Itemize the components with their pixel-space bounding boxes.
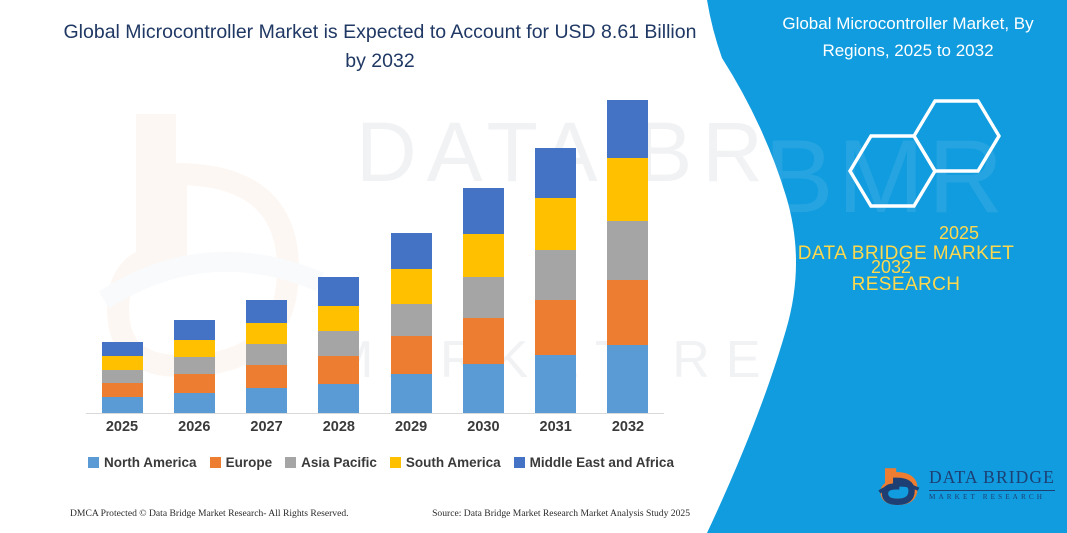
bar-segment [463, 364, 504, 413]
stacked-bar [391, 232, 432, 413]
bar-column [592, 100, 664, 413]
bar-segment [535, 355, 576, 413]
bar-column [303, 100, 375, 413]
left-pane: Global Microcontroller Market is Expecte… [0, 0, 740, 533]
bar-segment [174, 357, 215, 374]
legend-swatch-icon [390, 457, 401, 468]
bar-segment [391, 336, 432, 373]
bar-segment [246, 323, 287, 344]
legend-label: North America [104, 455, 197, 470]
x-axis-tick: 2031 [520, 419, 592, 435]
legend-swatch-icon [285, 457, 296, 468]
legend-label: Middle East and Africa [530, 455, 674, 470]
x-axis-tick: 2032 [592, 419, 664, 435]
bar-segment [535, 198, 576, 251]
legend-item[interactable]: Middle East and Africa [514, 455, 674, 470]
bar-segment [607, 158, 648, 221]
chart-plot-area [86, 100, 664, 414]
bar-segment [174, 320, 215, 340]
bar-column [231, 100, 303, 413]
stacked-bar [535, 148, 576, 413]
legend-swatch-icon [88, 457, 99, 468]
bar-segment [391, 374, 432, 413]
infographic-root: DATA BRIDGE MARKET RESEARCH Global Micro… [0, 0, 1067, 533]
bar-segment [102, 342, 143, 355]
legend-item[interactable]: Asia Pacific [285, 455, 377, 470]
bar-segment [246, 388, 287, 413]
x-axis-tick: 2026 [158, 419, 230, 435]
bar-segment [102, 397, 143, 413]
x-axis-tick: 2028 [303, 419, 375, 435]
x-axis-tick: 2025 [86, 419, 158, 435]
bar-segment [174, 393, 215, 413]
bar-column [158, 100, 230, 413]
footer: DMCA Protected © Data Bridge Market Rese… [70, 508, 690, 519]
hexagon-group: 2025 2032 [775, 95, 1045, 220]
logo-title: DATA BRIDGE [929, 469, 1055, 487]
hexagon-2032-shape [850, 136, 935, 206]
bar-segment [174, 340, 215, 357]
bar-segment [246, 300, 287, 324]
hexagon-shapes [775, 95, 1045, 220]
logo-text-block: DATA BRIDGE MARKET RESEARCH [929, 469, 1055, 501]
page-title: Global Microcontroller Market is Expecte… [62, 18, 698, 76]
bar-segment [318, 277, 359, 306]
stacked-bar-chart [86, 100, 664, 414]
bar-column [520, 100, 592, 413]
panel-brand: DATA BRIDGE MARKET RESEARCH [761, 238, 1051, 300]
bar-column [375, 100, 447, 413]
bar-segment [102, 383, 143, 398]
bar-segment [246, 365, 287, 389]
bar-segment [318, 331, 359, 356]
legend-label: South America [406, 455, 501, 470]
bar-segment [391, 233, 432, 270]
footer-copyright: DMCA Protected © Data Bridge Market Rese… [70, 508, 349, 519]
chart-x-axis: 20252026202720282029203020312032 [86, 419, 664, 435]
bar-segment [318, 356, 359, 384]
stacked-bar [318, 277, 359, 413]
bar-segment [607, 345, 648, 413]
bar-segment [246, 344, 287, 364]
stacked-bar [607, 100, 648, 413]
bar-segment [607, 100, 648, 158]
footer-source: Source: Data Bridge Market Research Mark… [432, 508, 690, 519]
panel-brand-line2: RESEARCH [761, 269, 1051, 300]
bar-segment [607, 280, 648, 345]
x-axis-tick: 2030 [447, 419, 519, 435]
bar-segment [102, 370, 143, 382]
bar-segment [174, 374, 215, 393]
bar-segment [463, 277, 504, 317]
bar-segment [463, 188, 504, 234]
stacked-bar [246, 300, 287, 413]
panel-brand-line1: DATA BRIDGE MARKET [761, 238, 1051, 269]
bar-column [86, 100, 158, 413]
legend-label: Europe [226, 455, 273, 470]
logo-divider [929, 490, 1055, 491]
x-axis-tick: 2029 [375, 419, 447, 435]
bar-segment [391, 304, 432, 336]
legend-item[interactable]: Europe [210, 455, 273, 470]
legend-swatch-icon [210, 457, 221, 468]
blue-panel-content: DBMR Global Microcontroller Market, By R… [745, 0, 1067, 533]
logo-subtitle: MARKET RESEARCH [929, 494, 1055, 501]
panel-title: Global Microcontroller Market, By Region… [763, 10, 1053, 64]
bar-segment [535, 148, 576, 197]
legend-label: Asia Pacific [301, 455, 377, 470]
bar-segment [463, 318, 504, 364]
bar-segment [391, 269, 432, 304]
stacked-bar [174, 320, 215, 413]
stacked-bar [463, 188, 504, 413]
x-axis-tick: 2027 [231, 419, 303, 435]
bar-segment [535, 250, 576, 299]
legend-item[interactable]: North America [88, 455, 197, 470]
bar-segment [318, 384, 359, 413]
chart-legend: North AmericaEuropeAsia PacificSouth Ame… [86, 455, 676, 470]
bar-segment [535, 300, 576, 355]
company-logo: DATA BRIDGE MARKET RESEARCH [878, 462, 1058, 508]
legend-item[interactable]: South America [390, 455, 501, 470]
data-bridge-logo-icon [878, 464, 920, 506]
bar-segment [318, 306, 359, 331]
bar-segment [607, 221, 648, 280]
bar-segment [102, 356, 143, 371]
bar-segment [463, 234, 504, 278]
stacked-bar [102, 342, 143, 413]
legend-swatch-icon [514, 457, 525, 468]
bar-column [447, 100, 519, 413]
